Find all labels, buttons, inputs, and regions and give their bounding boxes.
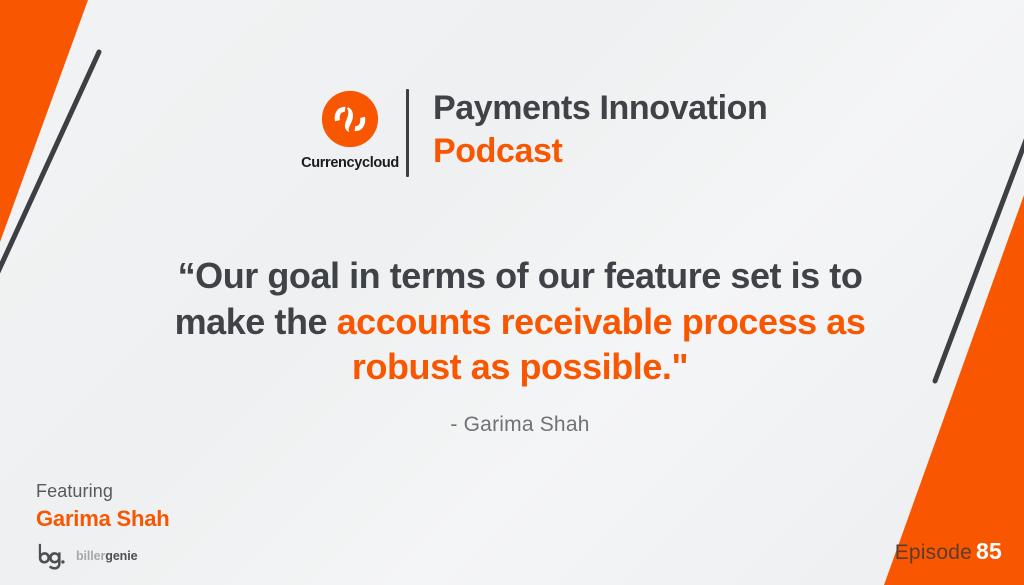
podcast-header: Currencycloud Payments Innovation Podcas… — [302, 84, 767, 177]
header-divider — [406, 89, 409, 177]
featuring-label: Featuring — [36, 480, 170, 503]
page-subtitle: Podcast — [433, 131, 767, 171]
featuring-guest-name: Garima Shah — [36, 505, 170, 534]
quote-segment-highlight: accounts receivable process as robust as… — [337, 301, 866, 388]
quote-attribution: - Garima Shah — [150, 413, 890, 437]
top-left-wedge — [0, 0, 88, 242]
sponsor-wordmark: billergenie — [76, 549, 137, 563]
billergenie-logo-icon — [36, 542, 70, 570]
episode-label: Episode — [895, 541, 972, 564]
currencycloud-brand: Currencycloud — [302, 90, 398, 171]
podcast-quote-card: Currencycloud Payments Innovation Podcas… — [0, 0, 1024, 585]
currencycloud-wordmark: Currencycloud — [301, 155, 399, 171]
top-left-slash — [0, 52, 99, 272]
sponsor-word-biller: biller — [76, 549, 105, 563]
currencycloud-logo-icon — [321, 90, 379, 148]
sponsor-logo: billergenie — [36, 542, 170, 570]
episode-badge: Episode85 — [895, 538, 1002, 565]
featuring-block: Featuring Garima Shah billergenie — [36, 480, 170, 570]
bottom-right-slash — [935, 140, 1024, 381]
bottom-right-wedge — [884, 195, 1024, 585]
podcast-title: Payments Innovation Podcast — [433, 88, 767, 170]
quote-text: “Our goal in terms of our feature set is… — [150, 253, 890, 390]
page-title: Payments Innovation — [433, 88, 767, 128]
episode-number: 85 — [976, 538, 1002, 564]
sponsor-word-genie: genie — [105, 549, 137, 563]
